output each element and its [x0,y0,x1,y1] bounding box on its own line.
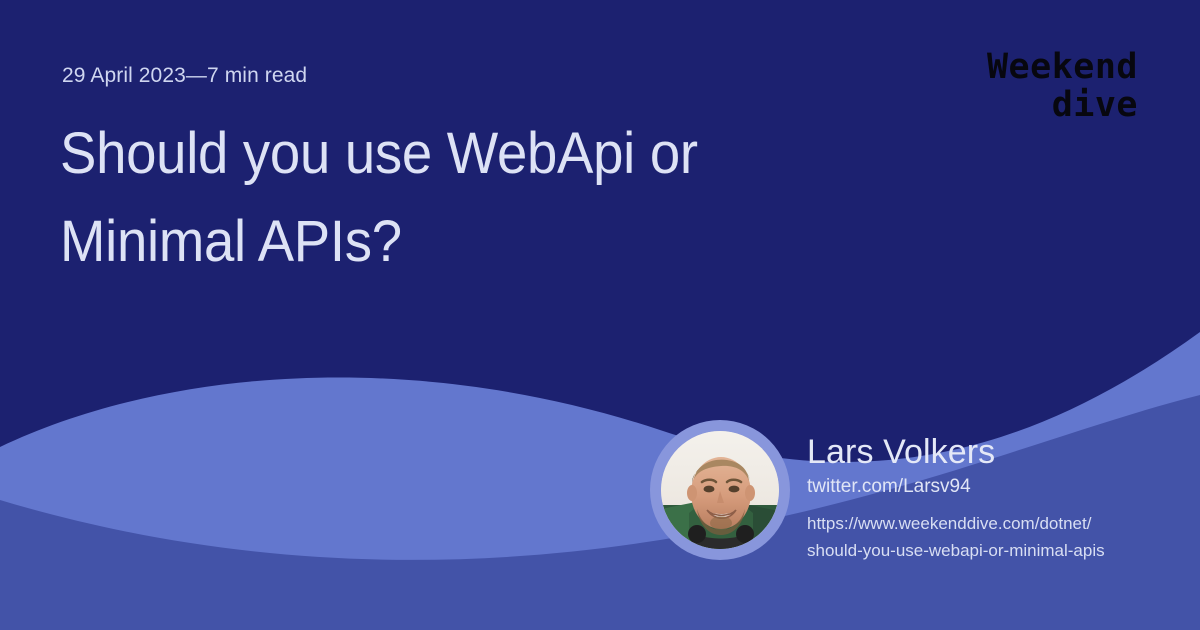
brand-logo: Weekend dive [987,48,1138,124]
article-title: Should you use WebApi or Minimal APIs? [60,110,840,286]
brand-logo-line-2: dive [987,86,1138,124]
article-url: https://www.weekenddive.com/dotnet/ shou… [807,510,1105,564]
author-block: Lars Volkers twitter.com/Larsv94 https:/… [650,420,1105,564]
article-url-line-2: should-you-use-webapi-or-minimal-apis [807,537,1105,564]
avatar-photo [661,431,779,549]
avatar-portrait-icon [661,431,779,549]
author-handle: twitter.com/Larsv94 [807,473,1105,501]
article-meta: 29 April 2023—7 min read [62,62,307,90]
brand-logo-line-1: Weekend [987,48,1138,86]
article-url-line-1: https://www.weekenddive.com/dotnet/ [807,510,1105,537]
author-details: Lars Volkers twitter.com/Larsv94 https:/… [807,420,1105,564]
author-name: Lars Volkers [807,432,1105,472]
avatar [650,420,790,560]
social-share-card: Weekend dive 29 April 2023—7 min read Sh… [0,0,1200,630]
